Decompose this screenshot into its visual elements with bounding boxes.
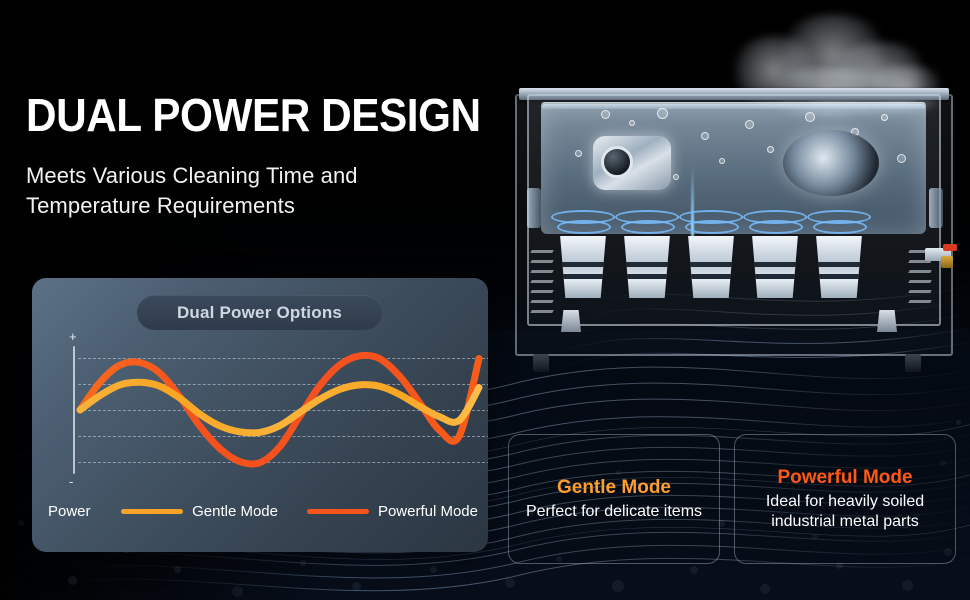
cleaner-foot-front [533,354,549,372]
y-axis-minus-label: - [69,475,73,488]
gentle-mode-card: Gentle Mode Perfect for delicate items [508,434,720,564]
chart-title-pill: Dual Power Options [137,295,382,330]
wristwatch-item [593,136,671,190]
ultrasonic-ring [749,220,803,234]
bubble [881,114,888,121]
bubble [745,120,754,129]
ultrasonic-ring [621,220,675,234]
bubble [657,108,668,119]
gentle-mode-title: Gentle Mode [557,477,671,499]
transducer-band [557,262,609,267]
transducer-band [685,262,737,267]
product-image-ultrasonic-cleaner [505,58,965,408]
bubble [601,110,610,119]
transducer-band [813,274,865,279]
bubble [575,150,582,157]
gentle-mode-description: Perfect for delicate items [526,502,702,522]
bubble [673,174,679,180]
tank-handle-right [929,188,943,228]
transducer [749,236,801,298]
legend-item-powerful: Powerful Mode [307,503,478,520]
page-subtitle: Meets Various Cleaning Time and Temperat… [26,161,520,222]
soiled-metal-part-item [783,130,879,196]
bubble [897,154,906,163]
transducer-band [813,262,865,267]
chart-curves [65,336,488,476]
cleaner-foot [877,310,897,332]
watch-face [601,146,633,178]
bubble [629,120,635,126]
powerful-mode-desc-line-1: Ideal for heavily soiled [766,492,924,512]
ultrasonic-ring [813,220,867,234]
legend-swatch-gentle [121,509,183,514]
drain-valve-nozzle [941,256,953,268]
legend-label-powerful: Powerful Mode [378,503,478,520]
legend-item-gentle: Gentle Mode [121,503,278,520]
transducer-band [685,274,737,279]
cleaner-foot [561,310,581,332]
bubble [719,158,725,164]
ultrasonic-ring [685,220,739,234]
dual-power-chart-card: Dual Power Options + - [32,278,488,552]
drain-valve-knob [943,244,957,251]
cleaner-foot-front [905,354,921,372]
page-title: DUAL POWER DESIGN [26,92,481,139]
chart-legend: Power Gentle Mode Powerful Mode [48,498,478,524]
transducer [621,236,673,298]
transducer-band [621,274,673,279]
water-surface [541,102,926,109]
bubble [767,146,774,153]
legend-axis-label: Power [48,503,121,520]
powerful-mode-title: Powerful Mode [777,467,912,489]
headline-block: DUAL POWER DESIGN Meets Various Cleaning… [26,92,520,222]
subtitle-line-1: Meets Various Cleaning Time and [26,161,520,191]
transducer-band [749,274,801,279]
promo-banner: DUAL POWER DESIGN Meets Various Cleaning… [0,0,970,600]
transducer-band [557,274,609,279]
transducer [557,236,609,298]
chart-plot-area: + - [65,336,488,476]
legend-swatch-powerful [307,509,369,514]
powerful-mode-card: Powerful Mode Ideal for heavily soiled i… [734,434,956,564]
transducer-band [621,262,673,267]
chart-title: Dual Power Options [177,303,342,323]
tank-handle-left [527,188,541,228]
subtitle-line-2: Temperature Requirements [26,191,520,221]
bubble [701,132,709,140]
ultrasonic-ring [557,220,611,234]
powerful-mode-description: Ideal for heavily soiled industrial meta… [766,492,924,532]
bubble [805,112,815,122]
transducer [813,236,865,298]
powerful-mode-desc-line-2: industrial metal parts [766,512,924,532]
legend-label-gentle: Gentle Mode [192,503,278,520]
gentle-mode-desc-line-1: Perfect for delicate items [526,502,702,522]
transducer [685,236,737,298]
transducer-band [749,262,801,267]
